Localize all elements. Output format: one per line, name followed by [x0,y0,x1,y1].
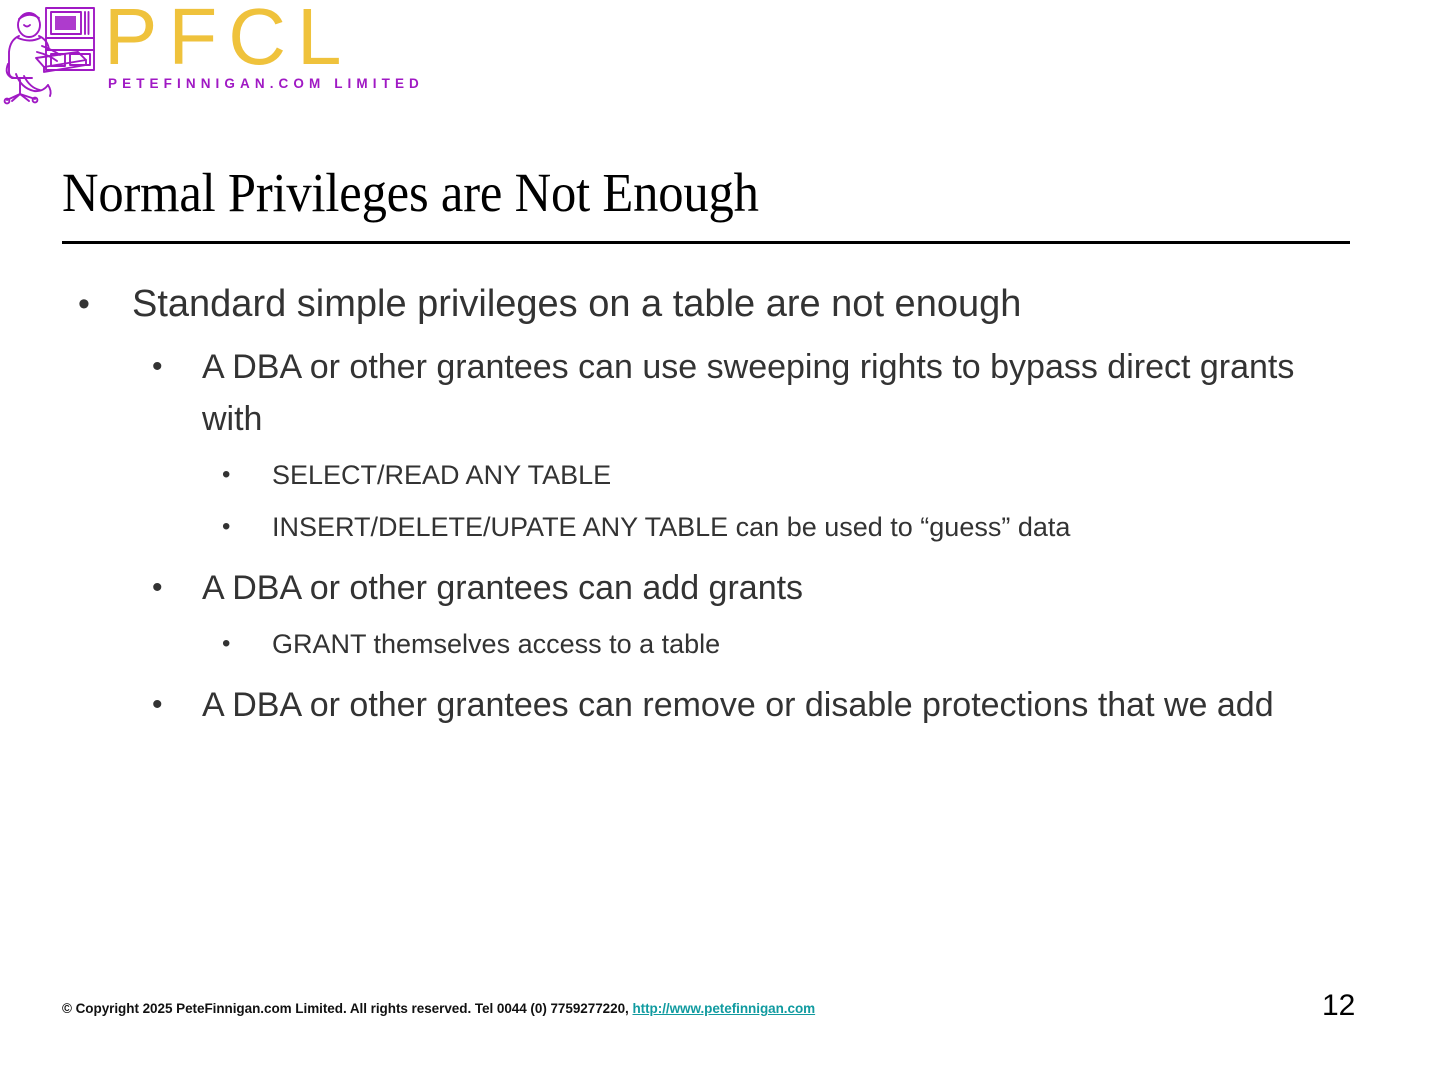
bullet-level2: • A DBA or other grantees can use sweepi… [0,341,1440,445]
bullet-marker-icon: • [152,562,163,614]
bullet-marker-icon: • [152,679,163,731]
bullet-level3: • SELECT/READ ANY TABLE [0,450,1440,500]
title-divider [62,241,1350,244]
bullet-level1: • Standard simple privileges on a table … [0,276,1440,333]
company-logo: PFCL PETEFINNIGAN.COM LIMITED [0,0,440,108]
bullet-text: GRANT themselves access to a table [272,619,1302,669]
bullet-marker-icon: • [222,450,230,500]
bullet-text: INSERT/DELETE/UPATE ANY TABLE can be use… [272,502,1302,552]
logo-subtitle-text: PETEFINNIGAN.COM LIMITED [108,76,424,92]
logo-pfcl-text: PFCL [104,0,353,80]
person-at-computer-illustration-icon [2,2,106,106]
bullet-level3: • INSERT/DELETE/UPATE ANY TABLE can be u… [0,502,1440,552]
bullet-text: A DBA or other grantees can add grants [202,562,1307,614]
bullet-text: A DBA or other grantees can use sweeping… [202,341,1307,445]
bullet-level2: • A DBA or other grantees can remove or … [0,679,1440,731]
bullet-marker-icon: • [222,619,230,669]
bullet-marker-icon: • [222,502,230,552]
footer-copyright-text: © Copyright 2025 PeteFinnigan.com Limite… [62,1001,632,1016]
bullet-marker-icon: • [152,341,163,393]
slide: PFCL PETEFINNIGAN.COM LIMITED Normal Pri… [0,0,1440,1079]
bullet-text: A DBA or other grantees can remove or di… [202,679,1307,731]
page-title-container: Normal Privileges are Not Enough [62,160,1352,226]
footer-website-link[interactable]: http://www.petefinnigan.com [632,1001,815,1016]
bullet-level3: • GRANT themselves access to a table [0,619,1440,669]
footer-copyright: © Copyright 2025 PeteFinnigan.com Limite… [62,1000,815,1018]
bullet-level2: • A DBA or other grantees can add grants [0,562,1440,614]
bullet-text: SELECT/READ ANY TABLE [272,450,1302,500]
page-number: 12 [1322,988,1355,1024]
slide-body: • Standard simple privileges on a table … [0,276,1440,736]
page-title: Normal Privileges are Not Enough [62,160,1249,226]
bullet-marker-icon: • [78,276,90,333]
logo-wordmark: PFCL PETEFINNIGAN.COM LIMITED [104,2,434,102]
bullet-text: Standard simple privileges on a table ar… [132,276,1362,333]
